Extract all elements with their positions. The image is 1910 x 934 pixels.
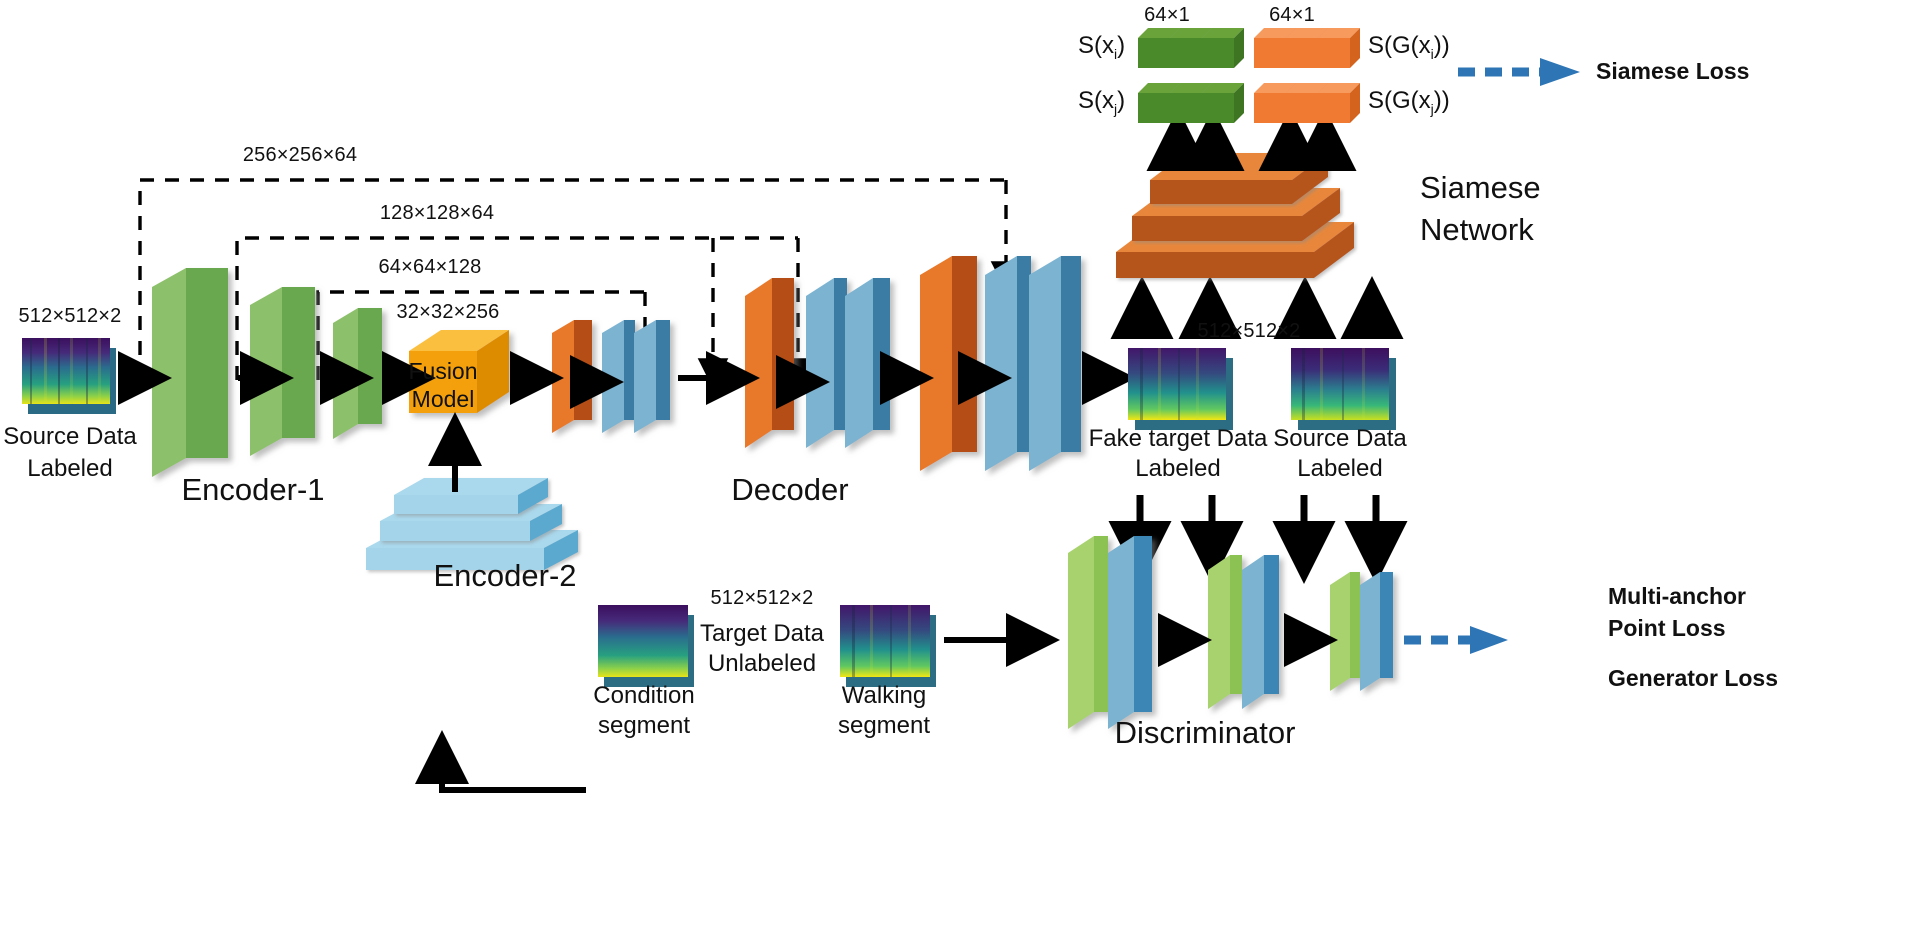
source-data-dim: 512×512×2 <box>18 305 121 328</box>
siamese-network-label-line2: Network <box>1420 212 1534 248</box>
source-data-sublabel: Labeled <box>27 455 112 483</box>
decoder-block-orange-1 <box>552 320 592 433</box>
multi-anchor-loss-label-line2: Point Loss <box>1608 615 1726 642</box>
feature-cubes-green-row1 <box>1138 28 1244 68</box>
decoder-block-orange-3 <box>920 256 977 471</box>
condition-to-encoder2-arrow <box>442 742 586 790</box>
diagram-graphics <box>0 0 1910 934</box>
encoder2-label: Encoder-2 <box>433 558 576 594</box>
source-data-label: Source Data <box>3 423 136 451</box>
discriminator-block-1 <box>1068 536 1152 729</box>
siamese-network-stack <box>1116 153 1354 278</box>
fusion-model-label-line1: Fusion <box>408 358 477 385</box>
feature-cubes-green-row2 <box>1138 83 1244 123</box>
encoder2-stack <box>366 478 578 570</box>
decoder-block-orange-2 <box>745 278 794 448</box>
fake-target-sublabel: Labeled <box>1135 455 1220 483</box>
condition-segment-label-line1: Condition <box>593 682 694 710</box>
fusion-dim-label: 32×32×256 <box>396 301 499 324</box>
decoder-block-blue-3 <box>985 256 1081 471</box>
diagram-canvas: 512×512×2 Source Data Labeled 256×256×64… <box>0 0 1910 934</box>
discriminator-input-arrows <box>1140 495 1376 570</box>
condition-segment-spectrogram <box>598 605 694 687</box>
target-data-label: Target Data <box>700 620 824 648</box>
feature-cubes-orange-row2 <box>1254 83 1360 123</box>
multi-anchor-loss-label-line1: Multi-anchor <box>1608 583 1746 610</box>
siamese-sxi-label: S(xi) <box>1078 32 1125 62</box>
encoder1-label: Encoder-1 <box>181 472 324 508</box>
source-data-right-sublabel: Labeled <box>1297 455 1382 483</box>
decoder-block-blue-2 <box>806 278 890 448</box>
target-data-dim: 512×512×2 <box>710 587 813 610</box>
discriminator-label: Discriminator <box>1115 715 1296 751</box>
source-data-spectrogram-right <box>1291 348 1396 430</box>
siamese-feat-dim-left: 64×1 <box>1144 4 1190 27</box>
skip-label-1: 256×256×64 <box>243 144 357 167</box>
skip-label-2: 128×128×64 <box>380 202 494 225</box>
discriminator-block-2 <box>1208 555 1279 709</box>
skip-label-3: 64×64×128 <box>378 256 481 279</box>
walking-segment-label-line2: segment <box>838 712 930 740</box>
fake-target-dim: 512×512×2 <box>1197 320 1300 343</box>
siamese-sxj-label: S(xj) <box>1078 87 1125 117</box>
encoder1-block-3 <box>333 308 382 439</box>
fake-target-label: Fake target Data <box>1089 425 1268 453</box>
condition-segment-label-line2: segment <box>598 712 690 740</box>
fusion-model-label-line2: Model <box>412 386 475 413</box>
siamese-loss-arrow <box>1458 58 1580 86</box>
encoder1-block-1 <box>152 268 228 477</box>
generator-loss-label: Generator Loss <box>1608 665 1778 692</box>
siamese-sgxi-label: S(G(xi)) <box>1368 32 1450 62</box>
discriminator-loss-arrow <box>1404 626 1508 654</box>
decoder-label: Decoder <box>731 472 848 508</box>
decoder-block-blue-1 <box>602 320 670 433</box>
siamese-sgxj-label: S(G(xj)) <box>1368 87 1450 117</box>
discriminator-block-3 <box>1330 572 1393 691</box>
fake-target-spectrogram <box>1128 348 1233 430</box>
source-data-spectrogram <box>22 338 116 414</box>
source-data-right-label: Source Data <box>1273 425 1406 453</box>
walking-segment-label-line1: Walking <box>842 682 926 710</box>
siamese-network-label-line1: Siamese <box>1420 170 1541 206</box>
encoder1-block-2 <box>250 287 315 456</box>
walking-segment-spectrogram <box>840 605 936 687</box>
siamese-feat-dim-right: 64×1 <box>1269 4 1315 27</box>
siamese-loss-label: Siamese Loss <box>1596 58 1749 85</box>
feature-cubes-orange-row1 <box>1254 28 1360 68</box>
target-data-sublabel: Unlabeled <box>708 650 816 678</box>
